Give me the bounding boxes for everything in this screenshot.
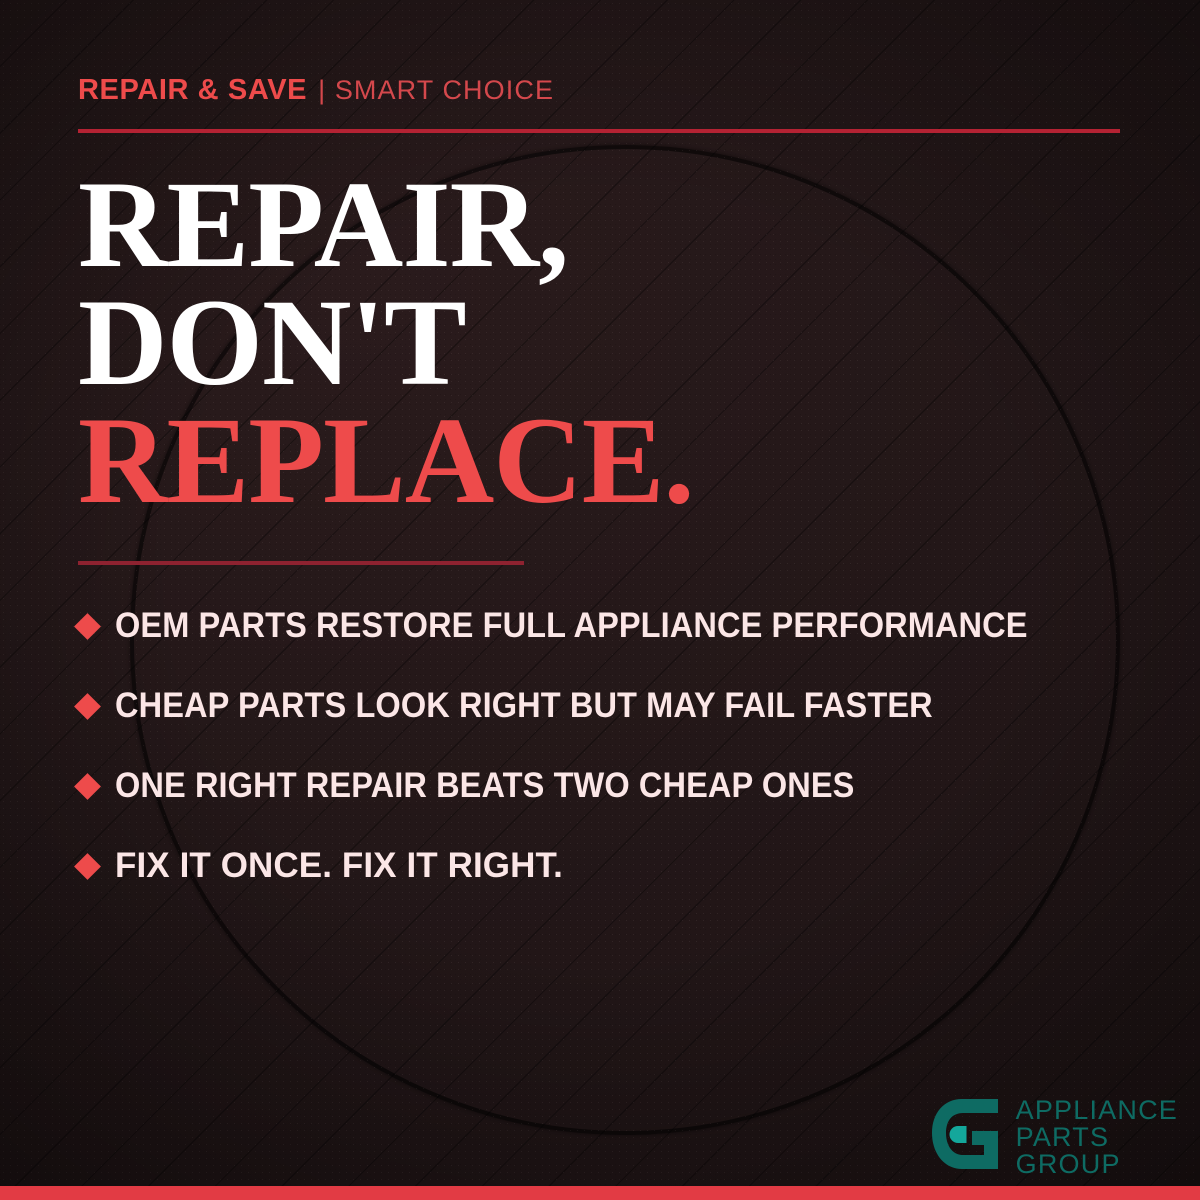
- brand-word-3: GROUP: [1016, 1151, 1178, 1178]
- diamond-icon: [74, 853, 101, 880]
- list-item: OEM PARTS RESTORE FULL APPLIANCE PERFORM…: [78, 586, 1153, 666]
- headline-block: REPAIR, DON'T REPLACE.: [78, 166, 1138, 520]
- benefits-list: OEM PARTS RESTORE FULL APPLIANCE PERFORM…: [78, 586, 1153, 906]
- bottom-accent-bar: [0, 1186, 1200, 1200]
- diamond-icon: [74, 693, 101, 720]
- brand-word-2: PARTS: [1016, 1124, 1178, 1151]
- headline-line-3: REPLACE.: [78, 402, 1138, 520]
- list-item: FIX IT ONCE. FIX IT RIGHT.: [78, 826, 1153, 906]
- list-item-label: ONE RIGHT REPAIR BEATS TWO CHEAP ONES: [115, 766, 854, 806]
- section-divider-rule: [78, 561, 524, 565]
- headline-line-2: DON'T: [78, 284, 1138, 402]
- headline-line-1: REPAIR,: [78, 166, 1138, 284]
- header-rule: [78, 129, 1120, 133]
- g-monogram-icon: [928, 1095, 1002, 1173]
- diamond-icon: [74, 773, 101, 800]
- eyebrow-light-text: | SMART CHOICE: [318, 75, 554, 106]
- eyebrow-kicker: REPAIR & SAVE | SMART CHOICE: [78, 74, 554, 107]
- list-item-label: FIX IT ONCE. FIX IT RIGHT.: [115, 846, 563, 886]
- brand-logo: APPLIANCE PARTS GROUP: [928, 1095, 1178, 1178]
- brand-wordmark: APPLIANCE PARTS GROUP: [1016, 1095, 1178, 1178]
- promo-poster: REPAIR & SAVE | SMART CHOICE REPAIR, DON…: [0, 0, 1200, 1200]
- list-item-label: OEM PARTS RESTORE FULL APPLIANCE PERFORM…: [115, 606, 1028, 646]
- list-item-label: CHEAP PARTS LOOK RIGHT BUT MAY FAIL FAST…: [115, 686, 933, 726]
- brand-word-1: APPLIANCE: [1016, 1097, 1178, 1124]
- list-item: CHEAP PARTS LOOK RIGHT BUT MAY FAIL FAST…: [78, 666, 1153, 746]
- eyebrow-strong-text: REPAIR & SAVE: [78, 74, 307, 107]
- diamond-icon: [74, 613, 101, 640]
- list-item: ONE RIGHT REPAIR BEATS TWO CHEAP ONES: [78, 746, 1153, 826]
